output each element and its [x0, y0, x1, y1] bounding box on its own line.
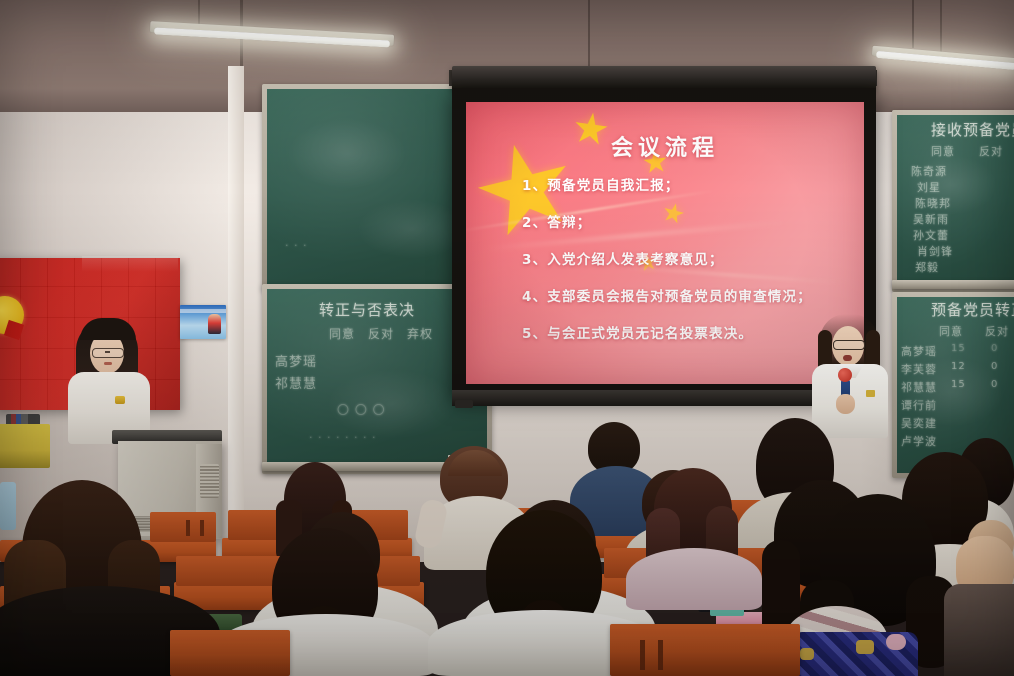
blackboard-center-name-2: 祁慧慧 [275, 373, 317, 392]
bb-row-name: 祁慧慧 [901, 379, 937, 395]
slide-vignette [466, 102, 864, 384]
bb-right-lower-col-1: 同意 [939, 323, 963, 339]
poster-figure [208, 314, 221, 334]
bb-row-name: 吴奕建 [901, 415, 937, 431]
bb-right-upper-name: 肖剑锋 [917, 243, 953, 259]
desk-slot [640, 640, 645, 670]
bb-row-oppose: 0 [991, 343, 998, 354]
desk-slot [186, 520, 190, 536]
bb-right-lower-col-2: 反对 [985, 323, 1009, 339]
party-badge-icon [115, 396, 125, 404]
desk-slot [200, 520, 204, 536]
bb-row-agree: 15 [951, 343, 966, 354]
light-hanger [912, 0, 914, 48]
chalk-tray-right-upper [892, 280, 1014, 289]
bb-row-name: 谭行前 [901, 397, 937, 413]
desk-back-panel [150, 512, 216, 542]
bb-row-oppose: 0 [991, 379, 998, 390]
water-bottle [0, 482, 16, 530]
screen-weight-bar [455, 400, 473, 408]
bb-right-upper-name: 陈晓邦 [915, 195, 951, 211]
desk-row-front [610, 624, 800, 676]
bb-right-upper-name: 吴新雨 [913, 211, 949, 227]
garment-ornament [856, 640, 874, 654]
blackboard-surface: 接收预备党员 同意 反对 陈奇源 刘星 陈晓邦 吴新雨 孙文蕾 肖剑锋 郑毅 [897, 115, 1014, 287]
side-table-items [0, 424, 50, 468]
microphone-icon [838, 368, 852, 382]
speaker-mouth [843, 355, 852, 361]
poster-band [180, 309, 226, 313]
flag-fold [82, 256, 178, 272]
blackboard-center-heading: 转正与否表决 [319, 299, 415, 320]
bb-right-upper-name: 刘星 [917, 179, 941, 195]
bb-row-name: 高梦瑶 [901, 343, 937, 359]
desk-row-front [170, 630, 290, 676]
garment-ornament [800, 648, 814, 660]
bb-row-agree: 12 [951, 361, 966, 372]
glasses-icon [833, 340, 865, 350]
wall-poster [180, 305, 226, 339]
bb-row-name: 卢学波 [901, 433, 937, 449]
blackboard-center-subheading: 同意 反对 弃权 [329, 325, 433, 342]
desk-slot [658, 640, 663, 670]
lectern-speaker-grille [200, 464, 219, 498]
glasses-bridge [105, 351, 110, 353]
blackboard-right-upper: 接收预备党员 同意 反对 陈奇源 刘星 陈晓邦 吴新雨 孙文蕾 肖剑锋 郑毅 [892, 110, 1014, 292]
bb-right-upper-name: 孙文蕾 [913, 227, 949, 243]
bb-right-upper-col-1: 同意 [931, 143, 955, 159]
bb-row-oppose: 0 [991, 361, 998, 372]
screen-roller-housing[interactable] [452, 66, 876, 90]
garment-flower [886, 634, 906, 650]
wall-pillar [228, 66, 244, 536]
bb-right-upper-name: 郑毅 [915, 259, 939, 275]
bb-right-upper-heading: 接收预备党员 [931, 119, 1014, 140]
bb-row-agree: 15 [951, 379, 966, 390]
bb-row-name: 李芙蓉 [901, 361, 937, 377]
bb-right-lower-heading: 预备党员转正 [931, 299, 1014, 320]
audience-arm-sleeve [944, 584, 1014, 676]
blackboard-center-name-1: 高梦瑶 [275, 351, 317, 370]
bb-right-upper-name: 陈奇源 [911, 163, 947, 179]
party-badge-icon [866, 390, 875, 397]
audience-shoulders [626, 548, 762, 610]
projected-slide: ★ ★ ★ ★ ★ 会议流程 1、预备党员自我汇报； 2、答辩； 3、入党介绍人… [466, 102, 864, 384]
glasses-icon [92, 348, 124, 358]
bb-right-upper-col-2: 反对 [979, 143, 1003, 159]
speaker-hand [836, 394, 855, 414]
speaker-mouth [104, 362, 112, 365]
classroom-scene: · · · 转正与否表决 同意 反对 弃权 高梦瑶 祁慧慧 〇 〇 〇 · · … [0, 0, 1014, 676]
